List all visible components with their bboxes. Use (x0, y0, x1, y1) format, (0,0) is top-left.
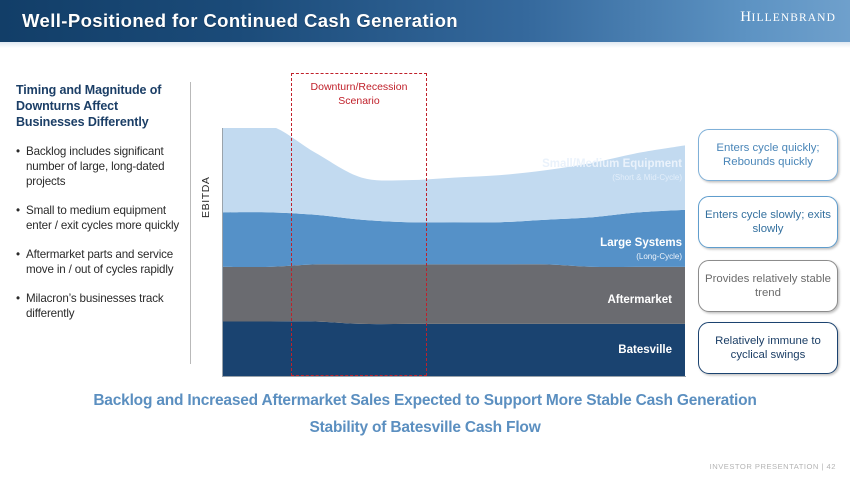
list-item: • Milacron’s businesses track differentl… (16, 291, 188, 321)
y-axis-line (222, 128, 223, 377)
bullet-icon: • (16, 144, 26, 189)
vertical-divider (190, 82, 191, 364)
callout-text: Relatively immune to cyclical swings (699, 334, 837, 363)
footer-message-line-1: Backlog and Increased Aftermarket Sales … (0, 392, 850, 410)
bullet-icon: • (16, 247, 26, 277)
list-item-label: Aftermarket parts and service move in / … (26, 247, 188, 277)
callout-enters-cycle-quickly: Enters cycle quickly; Rebounds quickly (698, 129, 838, 181)
callout-immune-to-cyclical-swings: Relatively immune to cyclical swings (698, 322, 838, 374)
list-item: • Backlog includes significant number of… (16, 144, 188, 189)
slide-header: Well-Positioned for Continued Cash Gener… (0, 0, 850, 42)
list-item: • Aftermarket parts and service move in … (16, 247, 188, 277)
bullet-icon: • (16, 291, 26, 321)
logo-initial: H (740, 9, 751, 25)
callout-text: Enters cycle quickly; Rebounds quickly (699, 141, 837, 170)
slide: Well-Positioned for Continued Cash Gener… (0, 0, 850, 478)
page-title: Well-Positioned for Continued Cash Gener… (22, 10, 458, 32)
callout-stable-trend: Provides relatively stable trend (698, 260, 838, 312)
y-axis-label: EBITDA (200, 176, 212, 218)
downturn-scenario-label: Downturn/Recession Scenario (291, 80, 427, 108)
callout-enters-cycle-slowly: Enters cycle slowly; exits slowly (698, 196, 838, 248)
callout-text: Provides relatively stable trend (699, 272, 837, 301)
list-item-label: Small to medium equipment enter / exit c… (26, 203, 188, 233)
list-item-label: Backlog includes significant number of l… (26, 144, 188, 189)
footer-note: INVESTOR PRESENTATION | 42 (710, 462, 836, 471)
list-item-label: Milacron’s businesses track differently (26, 291, 188, 321)
bullet-icon: • (16, 203, 26, 233)
logo-wordmark: ILLENBRAND (752, 12, 836, 24)
x-axis-line (222, 376, 686, 377)
header-accent-bar (0, 0, 850, 4)
downturn-scenario-box (291, 73, 427, 376)
hillenbrand-logo: HILLENBRAND (740, 8, 836, 26)
callout-text: Enters cycle slowly; exits slowly (699, 208, 837, 237)
header-shadow (0, 42, 850, 48)
left-text-column: Timing and Magnitude of Downturns Affect… (16, 82, 188, 321)
footer-message-line-2: Stability of Batesville Cash Flow (0, 419, 850, 437)
left-column-heading: Timing and Magnitude of Downturns Affect… (16, 82, 188, 130)
list-item: • Small to medium equipment enter / exit… (16, 203, 188, 233)
